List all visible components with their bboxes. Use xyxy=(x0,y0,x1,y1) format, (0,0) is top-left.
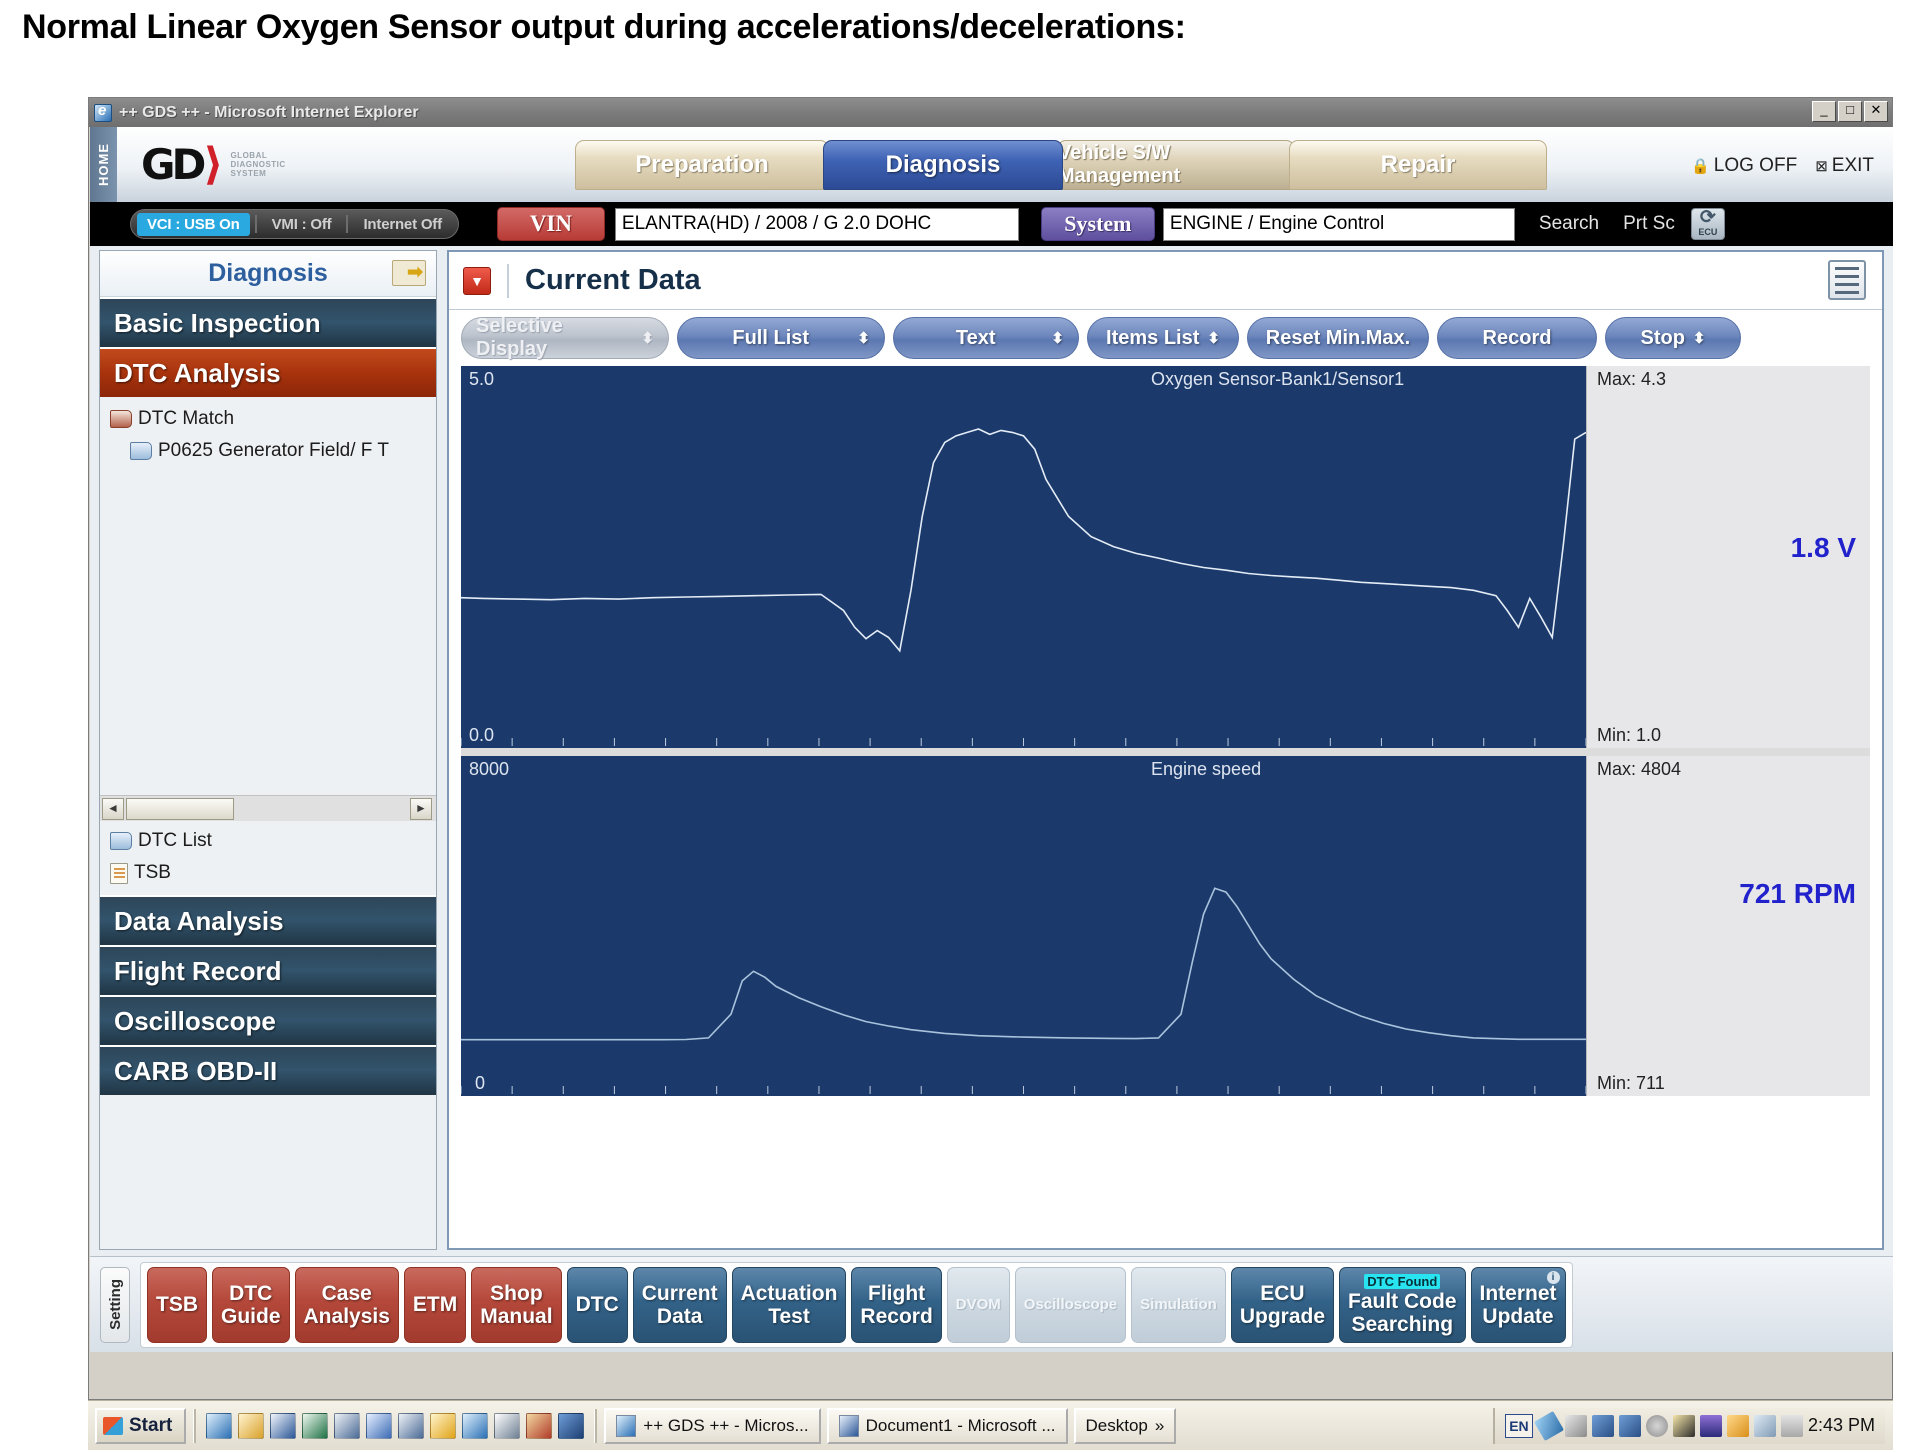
vin-value-field[interactable]: ELANTRA(HD) / 2008 / G 2.0 DOHC xyxy=(615,208,1019,241)
main-body: Diagnosis ➡ Basic Inspection DTC Analysi… xyxy=(90,246,1893,1256)
function-button-label: Shop xyxy=(490,1282,543,1305)
function-button-strip[interactable]: TSBDTCGuideCaseAnalysisETMShopManualDTCC… xyxy=(140,1262,1573,1348)
taskbar-item-document1[interactable]: Document1 - Microsoft ... xyxy=(827,1408,1068,1444)
sidebar: Diagnosis ➡ Basic Inspection DTC Analysi… xyxy=(99,250,437,1250)
chart1-max-label: Max: 4.3 xyxy=(1597,369,1666,390)
exit-button[interactable]: ⊠EXIT xyxy=(1815,155,1874,177)
tree-item-dtc-list[interactable]: DTC List xyxy=(100,825,436,857)
function-button-label: Guide xyxy=(221,1305,281,1328)
chart2-readout-panel: Max: 4804 Min: 711 721 RPM xyxy=(1586,756,1870,1096)
function-button-dtc[interactable]: DTC xyxy=(567,1267,628,1343)
function-button-label: ETM xyxy=(413,1293,457,1316)
folder-share-icon[interactable] xyxy=(1727,1415,1749,1437)
function-button-label: DTC xyxy=(576,1293,619,1316)
function-button-label: Current xyxy=(642,1282,718,1305)
battery-icon[interactable] xyxy=(1700,1415,1722,1437)
function-button-label: Simulation xyxy=(1140,1293,1217,1316)
function-button-dvom[interactable]: DVOM xyxy=(947,1267,1010,1343)
chart2-current-value: 721 RPM xyxy=(1739,878,1856,910)
chart2-min-label: Min: 711 xyxy=(1597,1073,1665,1094)
language-indicator[interactable]: EN xyxy=(1505,1414,1533,1438)
divider xyxy=(346,215,348,233)
tree-item-label: DTC Match xyxy=(138,408,234,430)
nav-tab-preparation[interactable]: Preparation xyxy=(575,140,829,190)
spinner-icon: ⬍ xyxy=(1207,331,1220,346)
collapse-triangle-icon[interactable]: ▼ xyxy=(463,267,491,295)
log-off-button[interactable]: 🔒LOG OFF xyxy=(1691,155,1797,177)
function-button-label: Searching xyxy=(1351,1313,1453,1336)
book-icon xyxy=(130,442,152,460)
vin-badge[interactable]: VIN xyxy=(497,207,605,241)
windows-taskbar: Start ++ GDS ++ - Micros... Document1 - … xyxy=(88,1400,1893,1450)
function-button-label: Manual xyxy=(480,1305,552,1328)
ecu-refresh-icon[interactable]: ECU xyxy=(1691,208,1725,240)
selective-display-button[interactable]: Selective Display ⬍ xyxy=(461,317,669,359)
windows-flag-icon xyxy=(103,1417,123,1435)
current-data-panel: ▼ Current Data Selective Display ⬍ Full … xyxy=(447,250,1884,1250)
nav-tab-vehicle-sw-management[interactable]: Vehicle S/W Management xyxy=(1057,140,1295,190)
function-button-label: TSB xyxy=(156,1293,198,1316)
print-screen-button[interactable]: Prt Sc xyxy=(1623,213,1675,235)
window-titlebar: ++ GDS ++ - Microsoft Internet Explorer … xyxy=(89,98,1892,127)
taskbar-item-gds[interactable]: ++ GDS ++ - Micros... xyxy=(604,1408,820,1444)
function-button-label: ECU xyxy=(1260,1282,1304,1305)
exit-label: EXIT xyxy=(1832,155,1874,176)
minimize-button[interactable]: _ xyxy=(1812,101,1836,122)
function-button-oscilloscope[interactable]: Oscilloscope xyxy=(1015,1267,1126,1343)
chart1-readout-panel: Max: 4.3 Min: 1.0 1.8 V xyxy=(1586,366,1870,748)
app2-icon[interactable] xyxy=(398,1413,424,1439)
dtc-found-badge: DTC Found xyxy=(1364,1274,1440,1289)
function-button-label: DTC xyxy=(229,1282,272,1305)
home-tab[interactable]: HOME xyxy=(90,127,117,202)
pen-icon[interactable] xyxy=(1534,1410,1564,1440)
nav-tab-repair[interactable]: Repair xyxy=(1289,140,1547,190)
function-button-shop-manual[interactable]: ShopManual xyxy=(471,1267,561,1343)
word-icon[interactable] xyxy=(270,1413,296,1439)
panel-toolbar[interactable]: Selective Display ⬍ Full List ⬍ Text ⬍ I… xyxy=(449,310,1882,366)
excel-icon[interactable] xyxy=(302,1413,328,1439)
stop-button[interactable]: Stop ⬍ xyxy=(1605,317,1741,359)
button-label: Text xyxy=(908,327,1043,350)
function-button-internet-update[interactable]: InternetUpdatei xyxy=(1471,1267,1566,1343)
gds-icon[interactable] xyxy=(558,1413,584,1439)
chart1-min-label: Min: 1.0 xyxy=(1597,725,1661,746)
function-button-label: Actuation xyxy=(741,1282,838,1305)
logo-sub-2: DIAGNOSTIC xyxy=(230,160,285,169)
divider xyxy=(594,1409,597,1443)
divider xyxy=(507,264,509,298)
vmi-status: VMI : Off xyxy=(262,213,342,236)
chart2-series-name: Engine speed xyxy=(1151,759,1261,780)
text-button[interactable]: Text ⬍ xyxy=(893,317,1079,359)
spinner-icon: ⬍ xyxy=(1051,331,1064,346)
search-button[interactable]: Search xyxy=(1539,213,1599,235)
button-label: Selective Display xyxy=(476,315,633,361)
chart1-series-name: Oxygen Sensor-Bank1/Sensor1 xyxy=(1151,369,1404,390)
function-button-dtc-guide[interactable]: DTCGuide xyxy=(212,1267,290,1343)
reset-min-max-button[interactable]: Reset Min.Max. xyxy=(1247,317,1429,359)
sidebar-item-dtc-analysis[interactable]: DTC Analysis xyxy=(100,347,436,397)
function-button-label: Flight xyxy=(868,1282,925,1305)
tree-item-label: P0625 Generator Field/ F T xyxy=(158,440,389,462)
desktop-label: Desktop xyxy=(1086,1416,1148,1436)
book-icon xyxy=(110,832,132,850)
function-toolbar: Setting TSBDTCGuideCaseAnalysisETMShopMa… xyxy=(90,1256,1893,1352)
function-button-label: Upgrade xyxy=(1240,1305,1325,1328)
network-disconnected-icon[interactable] xyxy=(1592,1415,1614,1437)
system-tray[interactable]: EN 2:43 PM xyxy=(1493,1408,1885,1444)
tablet-icon[interactable] xyxy=(1565,1415,1587,1437)
word-icon xyxy=(839,1415,859,1437)
ie-icon xyxy=(616,1415,636,1437)
function-button-simulation[interactable]: Simulation xyxy=(1131,1267,1226,1343)
scroll-right-button[interactable]: ► xyxy=(410,798,432,820)
function-button-label: Test xyxy=(768,1305,810,1328)
scroll-left-button[interactable]: ◄ xyxy=(102,798,124,820)
book-icon xyxy=(110,410,132,428)
tree-item-p0625[interactable]: P0625 Generator Field/ F T xyxy=(100,435,436,467)
network2-disconnected-icon[interactable] xyxy=(1619,1415,1641,1437)
start-label: Start xyxy=(129,1415,172,1437)
ie2-icon[interactable] xyxy=(462,1413,488,1439)
chart1-current-value: 1.8 V xyxy=(1791,532,1856,564)
function-button-label: Update xyxy=(1482,1305,1553,1328)
function-button-label: Oscilloscope xyxy=(1024,1293,1117,1316)
function-button-fault-code-searching[interactable]: DTC FoundFault CodeSearching xyxy=(1339,1267,1466,1343)
vci-status: VCI : USB On xyxy=(137,213,250,236)
chart2-ymin-label: 0 xyxy=(475,1073,485,1094)
lock-icon: 🔒 xyxy=(1691,158,1710,175)
sidebar-item-oscilloscope[interactable]: Oscilloscope xyxy=(100,995,436,1045)
button-label: Items List xyxy=(1106,327,1199,350)
items-list-button[interactable]: Items List ⬍ xyxy=(1087,317,1239,359)
taskbar-item-label: Document1 - Microsoft ... xyxy=(866,1416,1056,1436)
sidebar-horizontal-scrollbar[interactable]: ◄ ► xyxy=(100,795,436,821)
logo-sub-3: SYSTEM xyxy=(230,169,285,178)
function-button-label: Record xyxy=(860,1305,932,1328)
shield-icon[interactable] xyxy=(1646,1415,1668,1437)
home-tab-label: HOME xyxy=(96,143,111,186)
button-label: Stop xyxy=(1640,327,1684,350)
safely-remove-icon[interactable] xyxy=(1781,1415,1803,1437)
page-title: Normal Linear Oxygen Sensor output durin… xyxy=(22,8,1186,47)
sidebar-title: Diagnosis xyxy=(208,259,327,288)
maximize-button[interactable]: □ xyxy=(1838,101,1862,122)
list-view-icon[interactable] xyxy=(1828,260,1866,300)
notes-icon[interactable] xyxy=(366,1413,392,1439)
function-button-label: Analysis xyxy=(304,1305,390,1328)
function-button-label: Fault Code xyxy=(1348,1290,1457,1313)
function-button-current-data[interactable]: CurrentData xyxy=(633,1267,727,1343)
spinner-icon: ⬍ xyxy=(1693,331,1706,346)
chart-oxygen-sensor-wrap: 5.0 0.0 Oxygen Sensor-Bank1/Sensor1 Max:… xyxy=(461,366,1870,748)
logo-subtitle: GLOBAL DIAGNOSTIC SYSTEM xyxy=(230,151,285,178)
tree-item-dtc-match[interactable]: DTC Match xyxy=(100,403,436,435)
close-button[interactable]: ✕ xyxy=(1864,101,1888,122)
function-button-label: Internet xyxy=(1480,1282,1557,1305)
gds-logo: GD ⟩ GLOBAL DIAGNOSTIC SYSTEM xyxy=(141,139,286,190)
chart1-ymax-label: 5.0 xyxy=(469,369,494,390)
sidebar-tree: DTC Match P0625 Generator Field/ F T xyxy=(100,397,436,795)
sidebar-item-flight-record[interactable]: Flight Record xyxy=(100,945,436,995)
logo-swoosh-icon: ⟩ xyxy=(203,139,223,190)
ie-icon[interactable] xyxy=(206,1413,232,1439)
chart-engine-speed[interactable]: 8000 0 Engine speed Max: 4804 Min: 711 7… xyxy=(461,756,1870,1096)
info-badge-icon: i xyxy=(1547,1271,1560,1284)
function-button-label: Case xyxy=(322,1282,372,1305)
document-icon xyxy=(110,863,128,884)
function-button-actuation-test[interactable]: ActuationTest xyxy=(732,1267,847,1343)
sidebar-item-carb-obd-ii[interactable]: CARB OBD-II xyxy=(100,1045,436,1095)
divider xyxy=(255,215,257,233)
taskbar-item-label: ++ GDS ++ - Micros... xyxy=(643,1416,808,1436)
tree-item-label: TSB xyxy=(134,862,171,884)
connection-status-group: VCI : USB On VMI : Off Internet Off xyxy=(130,209,459,239)
system-value-field[interactable]: ENGINE / Engine Control xyxy=(1163,208,1515,241)
taskbar-desktop-toolbar[interactable]: Desktop » xyxy=(1074,1408,1177,1444)
setting-tab[interactable]: Setting xyxy=(100,1267,130,1343)
chart-engine-speed-wrap: 8000 0 Engine speed Max: 4804 Min: 711 7… xyxy=(461,756,1870,1096)
log-off-label: LOG OFF xyxy=(1714,155,1797,176)
start-button[interactable]: Start xyxy=(95,1408,186,1444)
internet-status: Internet Off xyxy=(353,213,451,236)
internet-explorer-icon xyxy=(94,104,112,122)
folder-icon[interactable] xyxy=(238,1413,264,1439)
tree-item-tsb[interactable]: TSB xyxy=(100,857,436,889)
spinner-icon: ⬍ xyxy=(641,331,654,346)
chart2-max-label: Max: 4804 xyxy=(1597,759,1681,780)
record-button[interactable]: Record xyxy=(1437,317,1597,359)
function-button-label: DVOM xyxy=(956,1293,1001,1316)
wireless-disabled-icon[interactable] xyxy=(1754,1415,1776,1437)
paint-icon[interactable] xyxy=(526,1413,552,1439)
quick-launch-bar[interactable] xyxy=(203,1413,587,1439)
status-vin-bar: VCI : USB On VMI : Off Internet Off VIN … xyxy=(90,202,1893,246)
exit-icon: ⊠ xyxy=(1815,158,1828,175)
chart-oxygen-sensor-plot xyxy=(461,366,1586,748)
panel-header: ▼ Current Data xyxy=(449,252,1882,310)
gds-application-window: ++ GDS ++ - Microsoft Internet Explorer … xyxy=(88,97,1893,1400)
chart-oxygen-sensor[interactable]: 5.0 0.0 Oxygen Sensor-Bank1/Sensor1 Max:… xyxy=(461,366,1870,748)
collapse-arrow-icon[interactable]: ➡ xyxy=(392,260,426,286)
header-account-actions[interactable]: 🔒LOG OFF ⊠EXIT xyxy=(1691,155,1874,177)
divider xyxy=(193,1409,196,1443)
chart-engine-speed-plot xyxy=(461,756,1586,1096)
puzzle-icon[interactable] xyxy=(1673,1415,1695,1437)
logo-sub-1: GLOBAL xyxy=(230,151,285,160)
clock-icon[interactable] xyxy=(430,1413,456,1439)
clock[interactable]: 2:43 PM xyxy=(1808,1415,1875,1436)
window-controls[interactable]: _ □ ✕ xyxy=(1812,101,1888,122)
chart1-ymin-label: 0.0 xyxy=(469,725,494,746)
main-nav-tabs[interactable]: Preparation Diagnosis Vehicle S/W Manage… xyxy=(575,127,1541,202)
panel-title-label: Current Data xyxy=(525,264,701,297)
sidebar-tree-secondary: DTC List TSB xyxy=(100,821,436,895)
function-button-tsb[interactable]: TSB xyxy=(147,1267,207,1343)
function-button-case-analysis[interactable]: CaseAnalysis xyxy=(295,1267,399,1343)
system-badge[interactable]: System xyxy=(1041,207,1155,241)
function-button-ecu-upgrade[interactable]: ECUUpgrade xyxy=(1231,1267,1334,1343)
app-icon[interactable] xyxy=(334,1413,360,1439)
nav-tab-diagnosis[interactable]: Diagnosis xyxy=(823,140,1063,190)
sidebar-item-basic-inspection[interactable]: Basic Inspection xyxy=(100,297,436,347)
tree-item-label: DTC List xyxy=(138,830,212,852)
sidebar-item-data-analysis[interactable]: Data Analysis xyxy=(100,895,436,945)
chevron-right-icon[interactable]: » xyxy=(1155,1416,1164,1436)
sidebar-header: Diagnosis ➡ xyxy=(100,251,436,297)
function-button-label: Data xyxy=(657,1305,703,1328)
chart2-ymax-label: 8000 xyxy=(469,759,509,780)
function-button-flight-record[interactable]: FlightRecord xyxy=(851,1267,941,1343)
button-label: Full List xyxy=(692,327,849,350)
setting-label: Setting xyxy=(107,1279,124,1330)
chart-icon[interactable] xyxy=(494,1413,520,1439)
logo-text: GD xyxy=(141,140,202,189)
spinner-icon: ⬍ xyxy=(857,331,870,346)
full-list-button[interactable]: Full List ⬍ xyxy=(677,317,885,359)
window-title: ++ GDS ++ - Microsoft Internet Explorer xyxy=(119,104,419,122)
chart-divider xyxy=(461,748,1870,756)
function-button-etm[interactable]: ETM xyxy=(404,1267,466,1343)
scrollbar-thumb[interactable] xyxy=(126,798,234,820)
